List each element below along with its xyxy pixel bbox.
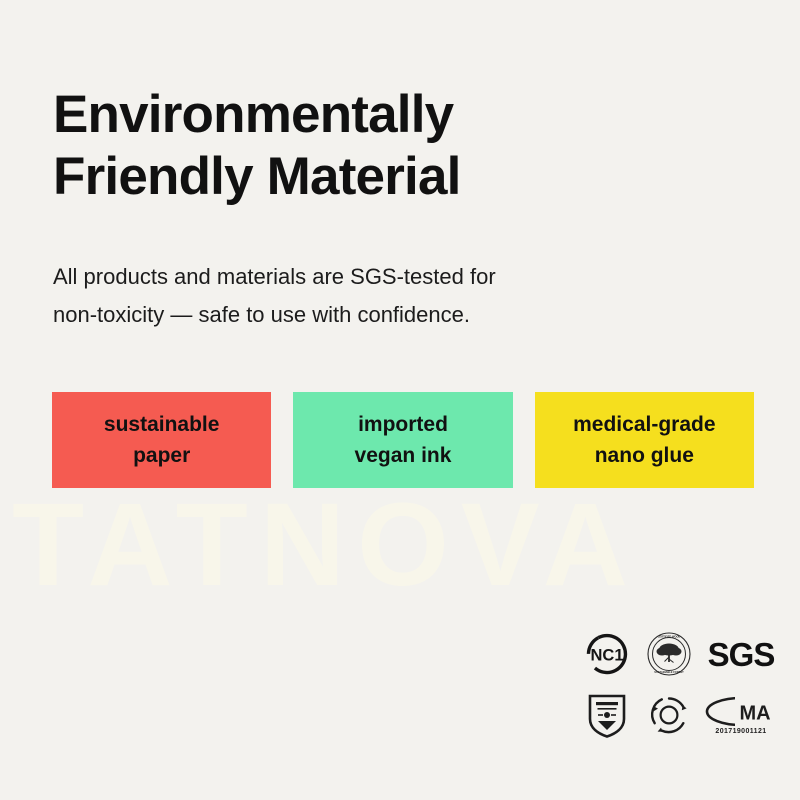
shield-icon (576, 684, 638, 746)
material-badge-line-1: imported (358, 409, 448, 440)
page-subtitle-line-2: non-toxicity — safe to use with confiden… (53, 296, 673, 334)
svg-text:SUSTAINABLE FOREST: SUSTAINABLE FOREST (654, 670, 684, 674)
material-badge-sustainable-paper: sustainable paper (52, 392, 271, 488)
svg-text:MA: MA (739, 702, 770, 724)
page-subtitle: All products and materials are SGS-teste… (53, 258, 673, 334)
material-badge-medical-grade-nano-glue: medical-grade nano glue (535, 392, 754, 488)
cma-certificate-number: 201719001121 (715, 728, 766, 735)
brand-watermark: TATNOVA (12, 486, 800, 604)
cma-icon: MA 201719001121 (700, 684, 782, 746)
recycling-icon (638, 684, 700, 746)
material-badge-imported-vegan-ink: imported vegan ink (293, 392, 512, 488)
svg-text:CERTIFIED WOOD: CERTIFIED WOOD (658, 635, 681, 639)
nc1-icon: NC1 (576, 624, 638, 684)
sgs-label: SGS (708, 638, 775, 671)
sgs-icon: SGS (700, 624, 782, 684)
page-subtitle-line-1: All products and materials are SGS-teste… (53, 258, 673, 296)
material-badge-line-2: vegan ink (355, 440, 452, 471)
svg-text:NC1: NC1 (590, 647, 623, 665)
page-title: Environmentally Friendly Material (53, 84, 713, 208)
material-badge-line-2: nano glue (595, 440, 694, 471)
page-title-line-2: Friendly Material (53, 146, 713, 208)
material-badge-row: sustainable paper imported vegan ink med… (52, 392, 754, 488)
material-badge-line-2: paper (133, 440, 190, 471)
page-title-line-1: Environmentally (53, 84, 713, 146)
poster-canvas: TATNOVA Environmentally Friendly Materia… (0, 0, 800, 800)
material-badge-line-1: medical-grade (573, 409, 715, 440)
material-badge-line-1: sustainable (104, 409, 220, 440)
tree-seal-icon: CERTIFIED WOOD SUSTAINABLE FOREST (638, 624, 700, 684)
certification-logo-grid: NC1 CERTIFIED WOOD SUSTAINABLE FOREST (576, 624, 782, 746)
